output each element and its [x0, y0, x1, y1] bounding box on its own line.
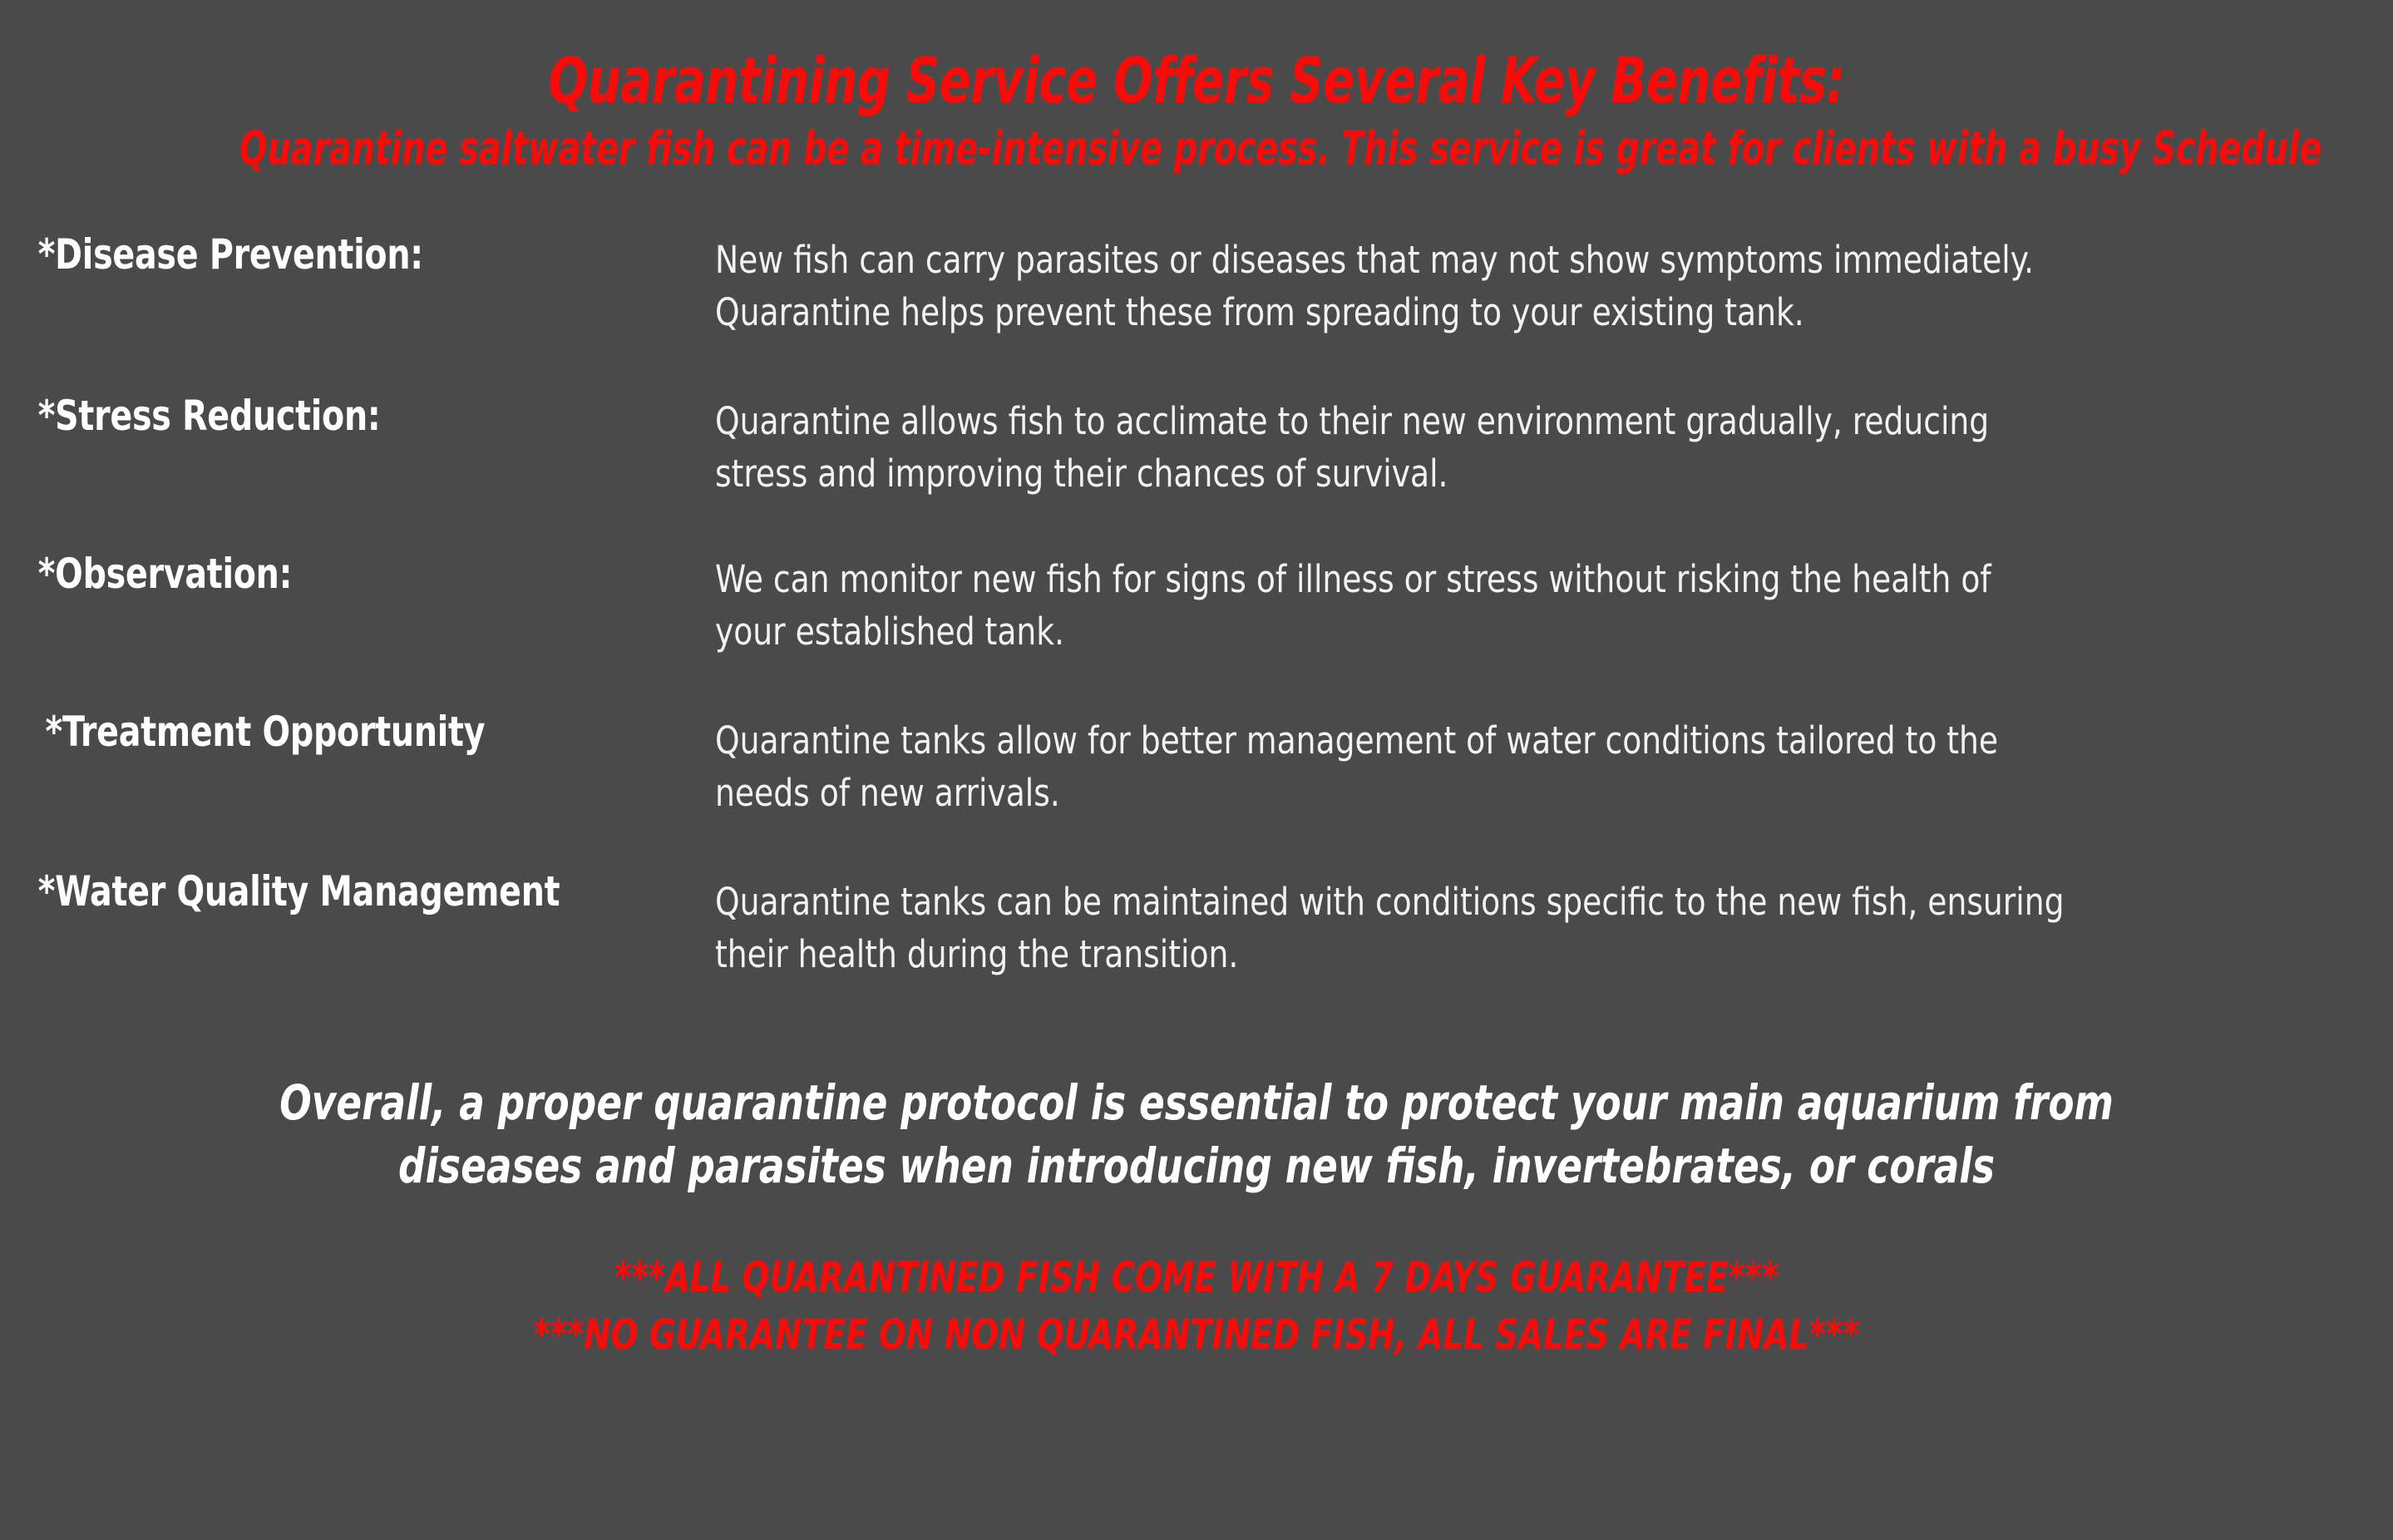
benefit-term-treatment-opportunity: *Treatment Opportunity	[0, 706, 629, 755]
no-guarantee-disclaimer: ***NO GUARANTEE ON NON QUARANTINED FISH,…	[167, 1306, 2225, 1364]
benefit-description-line: New fish can carry parasites or diseases…	[715, 234, 2190, 286]
summary-line: diseases and parasites when introducing …	[155, 1135, 2238, 1197]
summary-line: Overall, a proper quarantine protocol is…	[155, 1072, 2238, 1134]
quarantine-service-poster: Quarantining Service Offers Several Key …	[0, 0, 2393, 1540]
benefit-item: *Disease Prevention: New fish can carry …	[0, 232, 2393, 390]
page-title: Quarantining Service Offers Several Key …	[215, 48, 2178, 113]
benefit-description: Quarantine tanks allow for better manage…	[715, 706, 2276, 819]
benefit-description-line: Quarantine tanks can be maintained with …	[715, 876, 2190, 928]
benefit-description-line: their health during the transition.	[715, 928, 2190, 980]
benefit-description: Quarantine tanks can be maintained with …	[715, 864, 2276, 980]
guarantee-disclaimer: ***ALL QUARANTINED FISH COME WITH A 7 DA…	[167, 1249, 2225, 1306]
benefit-item: *Treatment Opportunity Quarantine tanks …	[0, 706, 2393, 864]
page-subtitle: Quarantine saltwater fish can be a time-…	[239, 125, 2154, 173]
benefit-term-water-quality-management: *Water Quality Management	[0, 864, 629, 915]
benefit-description-line: stress and improving their chances of su…	[715, 447, 2190, 500]
benefit-description-line: Quarantine tanks allow for better manage…	[715, 714, 2190, 767]
benefit-item: *Water Quality Management Quarantine tan…	[0, 864, 2393, 1022]
benefit-description: Quarantine allows fish to acclimate to t…	[715, 390, 2276, 500]
benefit-description: We can monitor new fish for signs of ill…	[715, 548, 2276, 658]
benefit-description-line: We can monitor new fish for signs of ill…	[715, 553, 2190, 605]
summary-statement: Overall, a proper quarantine protocol is…	[155, 1072, 2238, 1197]
benefit-description-line: your established tank.	[715, 605, 2190, 658]
benefit-term-observation: *Observation:	[0, 548, 629, 597]
benefit-term-stress-reduction: *Stress Reduction:	[0, 390, 629, 439]
benefits-list: *Disease Prevention: New fish can carry …	[0, 232, 2393, 1022]
poster-header: Quarantining Service Offers Several Key …	[0, 0, 2393, 172]
benefit-description-line: needs of new arrivals.	[715, 767, 2190, 819]
benefit-description-line: Quarantine allows fish to acclimate to t…	[715, 395, 2190, 447]
disclaimer-block: ***ALL QUARANTINED FISH COME WITH A 7 DA…	[167, 1249, 2225, 1364]
benefit-item: *Observation: We can monitor new fish fo…	[0, 548, 2393, 706]
benefit-item: *Stress Reduction: Quarantine allows fis…	[0, 390, 2393, 548]
benefit-description: New fish can carry parasites or diseases…	[715, 232, 2276, 338]
benefit-term-disease-prevention: *Disease Prevention:	[0, 232, 629, 278]
benefit-description-line: Quarantine helps prevent these from spre…	[715, 286, 2190, 338]
